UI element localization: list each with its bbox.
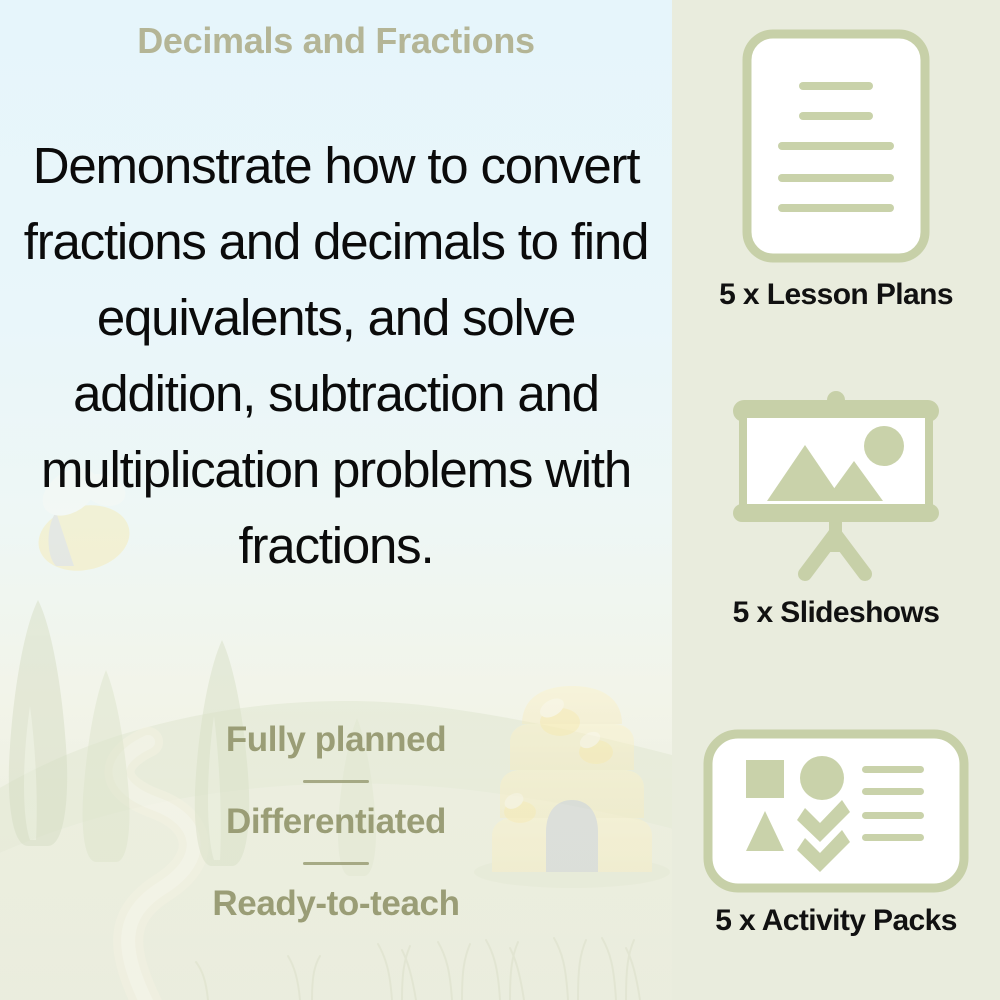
presentation-screen-icon xyxy=(672,388,1000,584)
tagline-ready-to-teach: Ready-to-teach xyxy=(0,882,672,926)
tagline-differentiated: Differentiated xyxy=(0,800,672,844)
tagline-fully-planned: Fully planned xyxy=(0,718,672,762)
tagline-list: Fully planned Differentiated Ready-to-te… xyxy=(0,718,672,926)
asset-item-slideshows: 5 x Slideshows xyxy=(672,388,1000,630)
tagline-divider xyxy=(303,862,369,865)
page-title: Decimals and Fractions xyxy=(0,20,672,62)
page-description: Demonstrate how to convert fractions and… xyxy=(22,128,650,584)
asset-item-activity-packs: 5 x Activity Packs xyxy=(672,728,1000,938)
tagline-divider xyxy=(303,780,369,783)
document-icon xyxy=(672,28,1000,264)
poster-canvas: Decimals and Fractions Demonstrate how t… xyxy=(0,0,1000,1000)
asset-label-lesson-plans: 5 x Lesson Plans xyxy=(672,278,1000,312)
activity-card-icon xyxy=(672,728,1000,894)
assets-sidebar: 5 x Lesson Plans xyxy=(672,0,1000,1000)
asset-label-activity-packs: 5 x Activity Packs xyxy=(672,904,1000,938)
asset-item-lesson-plans: 5 x Lesson Plans xyxy=(672,28,1000,312)
left-content-panel: Decimals and Fractions Demonstrate how t… xyxy=(0,0,672,1000)
grass-strokes xyxy=(196,938,640,1000)
asset-label-slideshows: 5 x Slideshows xyxy=(672,596,1000,630)
